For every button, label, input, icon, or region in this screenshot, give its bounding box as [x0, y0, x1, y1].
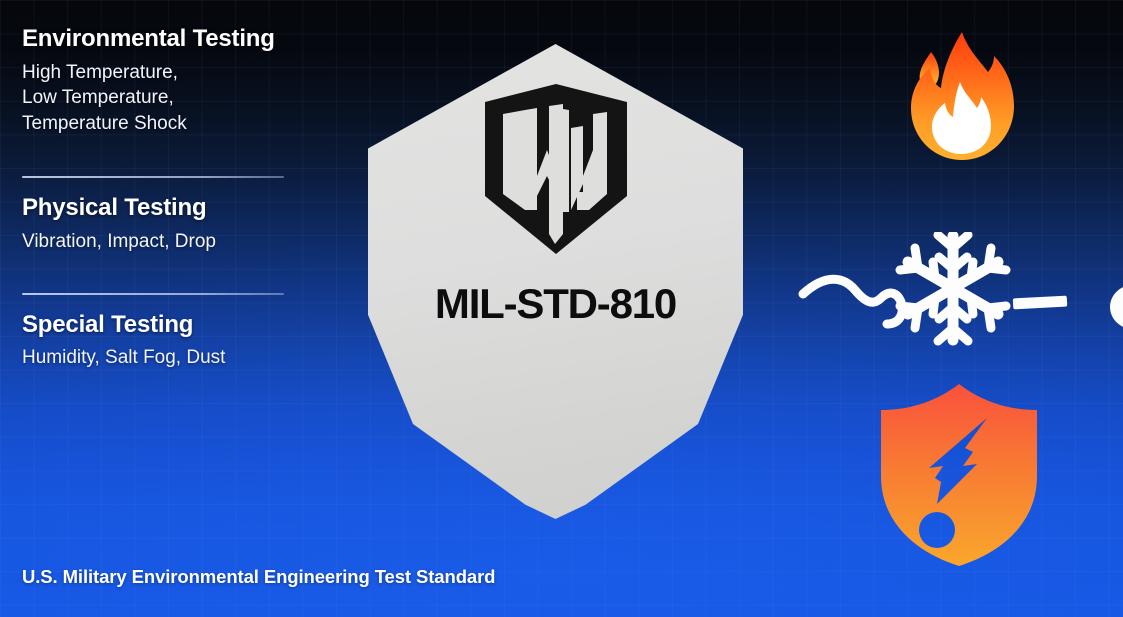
category-title: Special Testing — [22, 312, 342, 339]
category-block-physical: Physical Testing Vibration, Impact, Drop — [22, 195, 342, 254]
category-divider-1 — [22, 176, 284, 178]
spacer — [22, 255, 342, 275]
snowflake-icon — [795, 232, 1075, 350]
flame-icon — [898, 30, 1028, 170]
testing-categories-list: Environmental Testing High Temperature, … — [22, 26, 342, 371]
slide-footnote: U.S. Military Environmental Engineering … — [22, 566, 495, 588]
category-body: Vibration, Impact, Drop — [22, 229, 342, 254]
category-block-special: Special Testing Humidity, Salt Fog, Dust — [22, 312, 342, 371]
slide-canvas: Environmental Testing High Temperature, … — [0, 0, 1123, 617]
mil-std-shield-emblem — [485, 84, 627, 254]
category-block-environmental: Environmental Testing High Temperature, … — [22, 26, 342, 136]
category-divider-2 — [22, 293, 284, 295]
category-body: High Temperature, Low Temperature, Tempe… — [22, 60, 342, 136]
impact-shield-icon — [877, 382, 1041, 568]
badge-label: MIL-STD-810 — [368, 280, 743, 328]
mil-std-badge: MIL-STD-810 — [368, 44, 743, 519]
category-body: Humidity, Salt Fog, Dust — [22, 345, 342, 370]
category-title: Physical Testing — [22, 195, 342, 222]
edge-circle-decoration — [1110, 285, 1123, 329]
category-title: Environmental Testing — [22, 26, 342, 53]
spacer — [22, 136, 342, 158]
